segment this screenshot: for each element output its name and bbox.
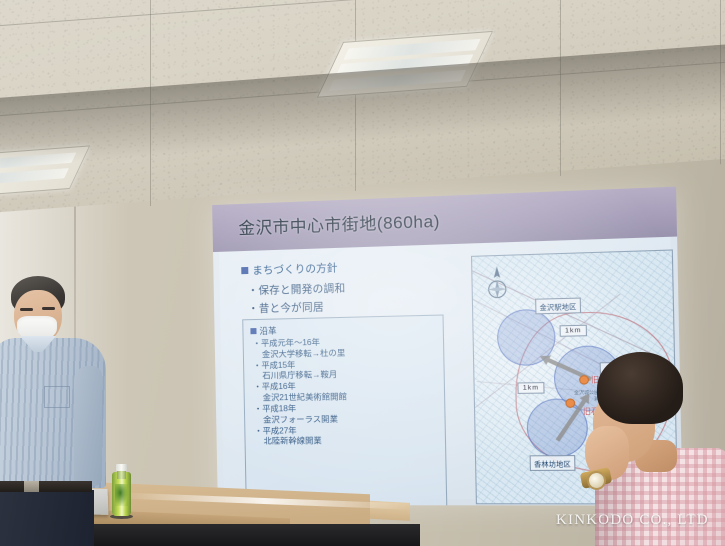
history-detail: 北陸新幹線開業 [264, 436, 438, 448]
square-bullet-icon [250, 328, 256, 334]
policy-bullet: ・昔と今が同居 [248, 296, 453, 317]
belt-buckle [24, 481, 39, 492]
person-left-trousers [0, 490, 94, 546]
person-standing-left [0, 276, 116, 546]
policy-bullet: ・保存と開発の調和 [248, 277, 453, 298]
map-area-label: 金沢駅地区 [535, 298, 581, 315]
map-scale-label: 1km [517, 382, 544, 394]
person-left-belt [0, 481, 92, 492]
person-left-arm [74, 366, 102, 486]
person-left-eyebrow [20, 308, 33, 311]
bottle-label-graphic [115, 484, 128, 506]
watermark: KINKODO CO., LTD [556, 512, 709, 529]
map-scale-label: 1km [560, 325, 588, 337]
policy-heading-row: まちづくりの方針 [241, 256, 452, 278]
policy-section: まちづくりの方針 ・保存と開発の調和 ・昔と今が同居 [241, 256, 453, 319]
history-heading: 沿革 [259, 325, 276, 337]
person-left-shirt-pocket [44, 386, 70, 408]
history-box: 沿革 ・平成元年～16年 金沢大学移転→杜の里 ・平成15年 石川県庁移転→鞍月… [242, 314, 447, 505]
compass-icon [485, 266, 509, 302]
poi-marker-dot [565, 398, 575, 408]
person-left-eyebrow [42, 307, 55, 310]
map-area-label: 香林坊地区 [530, 455, 576, 471]
bottle-cap [116, 464, 127, 471]
bottle-neck [117, 470, 126, 479]
person-right-hair [597, 352, 683, 424]
conference-room-photo: 金沢市中心市街地(860ha) まちづくりの方針 ・保存と開発の調和 ・昔と今が… [0, 0, 725, 546]
policy-heading: まちづくりの方針 [252, 260, 337, 278]
history-heading-row: 沿革 [250, 321, 435, 337]
square-bullet-icon [241, 267, 248, 274]
